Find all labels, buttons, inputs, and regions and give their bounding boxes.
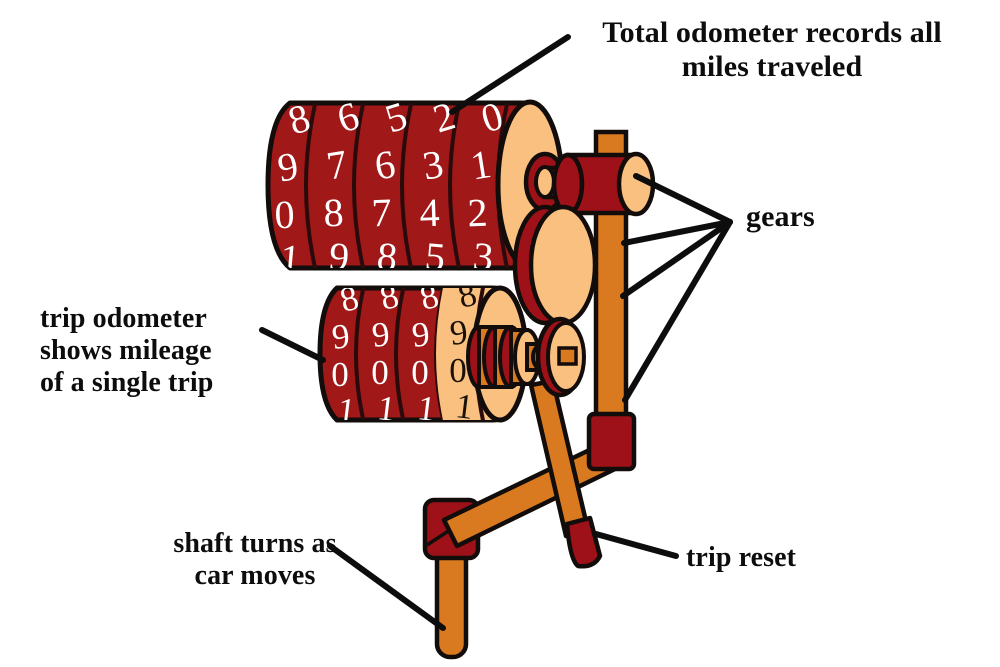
svg-text:0: 0 [371,353,389,392]
upper-spur-gear [554,154,653,214]
svg-text:1: 1 [375,388,397,429]
svg-text:3: 3 [471,233,495,280]
lower-vertical-shaft [437,545,466,657]
svg-text:5: 5 [423,233,447,280]
svg-text:0: 0 [331,355,349,394]
svg-text:2: 2 [385,421,411,463]
label-shaft-turns: shaft turns as car moves [130,528,380,592]
odometer-diagram: 8 9 0 1 2 6 7 8 9 0 5 6 7 [0,0,1000,667]
leader-gear-4 [625,222,730,400]
svg-text:2: 2 [463,419,489,461]
label-trip-odometer: trip odometer shows mileage of a single … [40,303,310,399]
svg-text:0: 0 [449,351,467,390]
svg-text:1: 1 [335,390,357,431]
svg-text:4: 4 [419,190,441,236]
svg-text:7: 7 [371,190,393,236]
svg-text:0: 0 [411,353,429,392]
svg-text:0: 0 [274,192,296,238]
trip-reset-rod-tip [567,518,600,566]
trip-reset-knob[interactable] [468,319,584,395]
mid-gear-disc [515,207,595,323]
leader-trip-reset [596,534,676,556]
svg-text:1: 1 [415,388,437,429]
svg-text:2: 2 [345,423,371,465]
label-trip-reset: trip reset [686,542,796,574]
svg-text:2: 2 [467,190,489,236]
svg-text:9: 9 [327,233,351,280]
svg-text:2: 2 [425,421,451,463]
label-total-odometer: Total odometer records all miles travele… [560,16,984,84]
svg-text:8: 8 [375,233,399,280]
lower-coupling-block [589,414,634,469]
svg-text:8: 8 [323,190,345,236]
label-gears: gears [746,200,815,234]
